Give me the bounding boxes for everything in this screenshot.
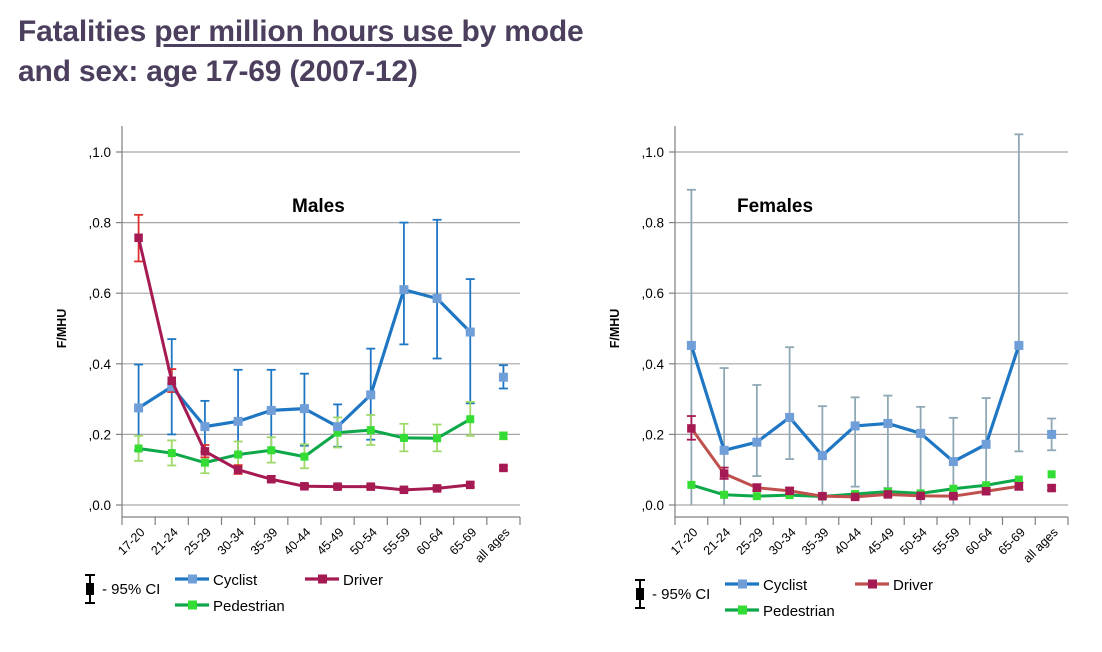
y-axis-tick-label: ,0.4 [88,357,111,372]
data-point-marker[interactable] [300,482,309,491]
data-point-marker[interactable] [234,451,242,459]
data-point-marker[interactable] [400,486,409,495]
legend-label-driver: Driver [343,572,383,589]
data-point-marker[interactable] [720,469,729,478]
data-point-marker[interactable] [884,490,893,499]
x-axis-category-label: 25-29 [182,525,215,558]
legend-label-cyclist: Cyclist [213,572,258,589]
x-axis-category-label: 55-59 [381,525,414,558]
data-point-marker[interactable] [818,492,827,501]
data-point-marker[interactable] [499,464,508,473]
data-point-marker[interactable] [1015,482,1024,491]
data-point-marker[interactable] [333,422,342,431]
data-point-marker[interactable] [234,417,243,426]
x-axis-category-label: 21-24 [701,525,734,558]
x-axis-category-label: 25-29 [733,525,766,558]
data-point-marker[interactable] [367,426,375,434]
panel-title: Females [737,196,813,217]
x-axis-category-label: all ages [1020,525,1060,565]
chart-males: ,0.0,0.2,0.4,0.6,0.8,1.0F/MHU17-2021-242… [0,112,560,642]
data-point-marker[interactable] [300,453,308,461]
data-point-marker[interactable] [267,475,276,484]
x-axis-category-label: 17-20 [115,525,148,558]
data-point-marker[interactable] [720,446,729,455]
data-point-marker[interactable] [1048,470,1056,478]
data-point-marker[interactable] [949,485,957,493]
data-point-marker[interactable] [785,487,794,496]
legend-label-driver: Driver [893,577,933,594]
data-point-marker[interactable] [201,447,210,456]
legend-label-ci: - 95% CI [652,586,710,603]
x-axis-category-label: 17-20 [668,525,701,558]
y-axis-tick-label: ,0.0 [641,498,664,513]
y-axis-tick-label: ,1.0 [641,145,664,160]
y-axis-tick-label: ,0.4 [641,357,664,372]
data-point-marker[interactable] [687,341,696,350]
data-point-marker[interactable] [753,483,762,492]
y-axis-tick-label: ,0.6 [641,286,664,301]
data-point-marker[interactable] [1014,341,1023,350]
data-point-marker[interactable] [300,404,309,413]
y-axis-tick-label: ,0.6 [88,286,111,301]
x-axis-category-label: 50-54 [897,525,930,558]
data-point-marker[interactable] [366,390,375,399]
y-axis-tick-label: ,1.0 [88,145,111,160]
legend-label-ci: - 95% CI [102,581,160,598]
title-line-2: and sex: age 17-69 (2007-12) [18,55,418,88]
data-point-marker[interactable] [851,493,860,502]
data-point-marker[interactable] [916,492,925,501]
legend-label-pedestrian: Pedestrian [763,603,835,620]
data-point-marker[interactable] [982,487,991,496]
title-segment-underlined: per million hours use [154,15,461,48]
data-point-marker[interactable] [168,376,177,385]
data-point-marker[interactable] [753,492,761,500]
data-point-marker[interactable] [818,451,827,460]
x-axis-category-label: 21-24 [148,525,181,558]
data-point-marker[interactable] [720,491,728,499]
series-cyclist [134,285,508,431]
data-point-marker[interactable] [134,234,143,243]
legend-swatch-marker [188,575,197,584]
chart-females: ,0.0,0.2,0.4,0.6,0.8,1.0F/MHU17-2021-242… [552,112,1102,642]
x-axis-category-label: 60-64 [414,525,447,558]
page-title: Fatalities per million hours use by mode… [18,12,838,92]
data-point-marker[interactable] [499,432,507,440]
x-axis-category-label: 45-49 [314,525,347,558]
x-axis-category-label: 60-64 [963,525,996,558]
x-axis-category-label: all ages [472,525,512,565]
data-point-marker[interactable] [466,481,475,490]
legend: - 95% CICyclistDriverPedestrian [635,577,933,620]
x-axis-category-label: 55-59 [930,525,963,558]
data-point-marker[interactable] [134,403,143,412]
data-point-marker[interactable] [851,421,860,430]
data-point-marker[interactable] [1047,430,1056,439]
error-bars-driver [134,215,508,491]
plot-svg: ,0.0,0.2,0.4,0.6,0.8,1.0F/MHU17-2021-242… [0,112,560,642]
x-axis-category-label: 35-39 [799,525,832,558]
y-axis-tick-label: ,0.8 [88,216,111,231]
legend-swatch-marker [738,580,747,589]
x-axis-category-label: 50-54 [347,525,380,558]
data-point-marker[interactable] [201,459,209,467]
data-point-marker[interactable] [433,484,442,493]
legend-swatch-marker [318,575,327,584]
data-point-marker[interactable] [333,482,342,491]
y-axis-tick-label: ,0.2 [641,427,664,442]
legend-errorbar-box [86,583,94,595]
legend-label-pedestrian: Pedestrian [213,598,285,615]
data-point-marker[interactable] [135,445,143,453]
legend: - 95% CICyclistDriverPedestrian [85,572,383,615]
legend-label-cyclist: Cyclist [763,577,808,594]
error-bars-driver [687,416,1056,499]
y-axis-tick-label: ,0.2 [88,427,111,442]
data-point-marker[interactable] [949,457,958,466]
slide-canvas: Fatalities per million hours use by mode… [0,0,1102,652]
data-point-marker[interactable] [752,438,761,447]
x-axis-category-label: 30-34 [215,525,248,558]
series-cyclist [687,341,1056,466]
series-driver [687,424,1056,501]
x-axis-category-label: 40-44 [281,525,314,558]
data-point-marker[interactable] [982,440,991,449]
x-axis-category-label: 30-34 [766,525,799,558]
data-point-marker[interactable] [367,482,376,491]
legend-swatch-marker [738,606,747,615]
data-point-marker[interactable] [466,415,474,423]
y-axis-title: F/MHU [608,309,622,349]
legend-swatch-marker [188,601,197,610]
data-point-marker[interactable] [399,285,408,294]
y-axis-title: F/MHU [55,309,69,349]
x-axis-category-label: 45-49 [864,525,897,558]
data-point-marker[interactable] [687,424,696,433]
title-segment-plain-2: by mode [462,15,584,48]
legend-errorbar-box [636,588,644,600]
data-point-marker[interactable] [267,406,276,415]
data-point-marker[interactable] [949,492,958,501]
data-point-marker[interactable] [168,449,176,457]
data-point-marker[interactable] [883,419,892,428]
legend-swatch-marker [868,580,877,589]
data-point-marker[interactable] [234,465,243,474]
error-bars-pedestrian [134,402,508,473]
y-axis-tick-label: ,0.8 [641,216,664,231]
data-point-marker[interactable] [916,429,925,438]
data-point-marker[interactable] [499,373,508,382]
data-point-marker[interactable] [785,413,794,422]
error-bars-cyclist [687,134,1056,505]
data-point-marker[interactable] [1047,484,1056,493]
plot-svg: ,0.0,0.2,0.4,0.6,0.8,1.0F/MHU17-2021-242… [552,112,1102,642]
data-point-marker[interactable] [466,328,475,337]
x-axis-category-label: 35-39 [248,525,281,558]
data-point-marker[interactable] [433,434,441,442]
data-point-marker[interactable] [200,422,209,431]
y-axis-tick-label: ,0.0 [88,498,111,513]
data-point-marker[interactable] [433,294,442,303]
data-point-marker[interactable] [267,446,275,454]
data-point-marker[interactable] [687,481,695,489]
title-segment-plain: Fatalities [18,15,154,48]
x-axis-category-label: 40-44 [832,525,865,558]
data-point-marker[interactable] [400,434,408,442]
panel-title: Males [292,196,345,217]
